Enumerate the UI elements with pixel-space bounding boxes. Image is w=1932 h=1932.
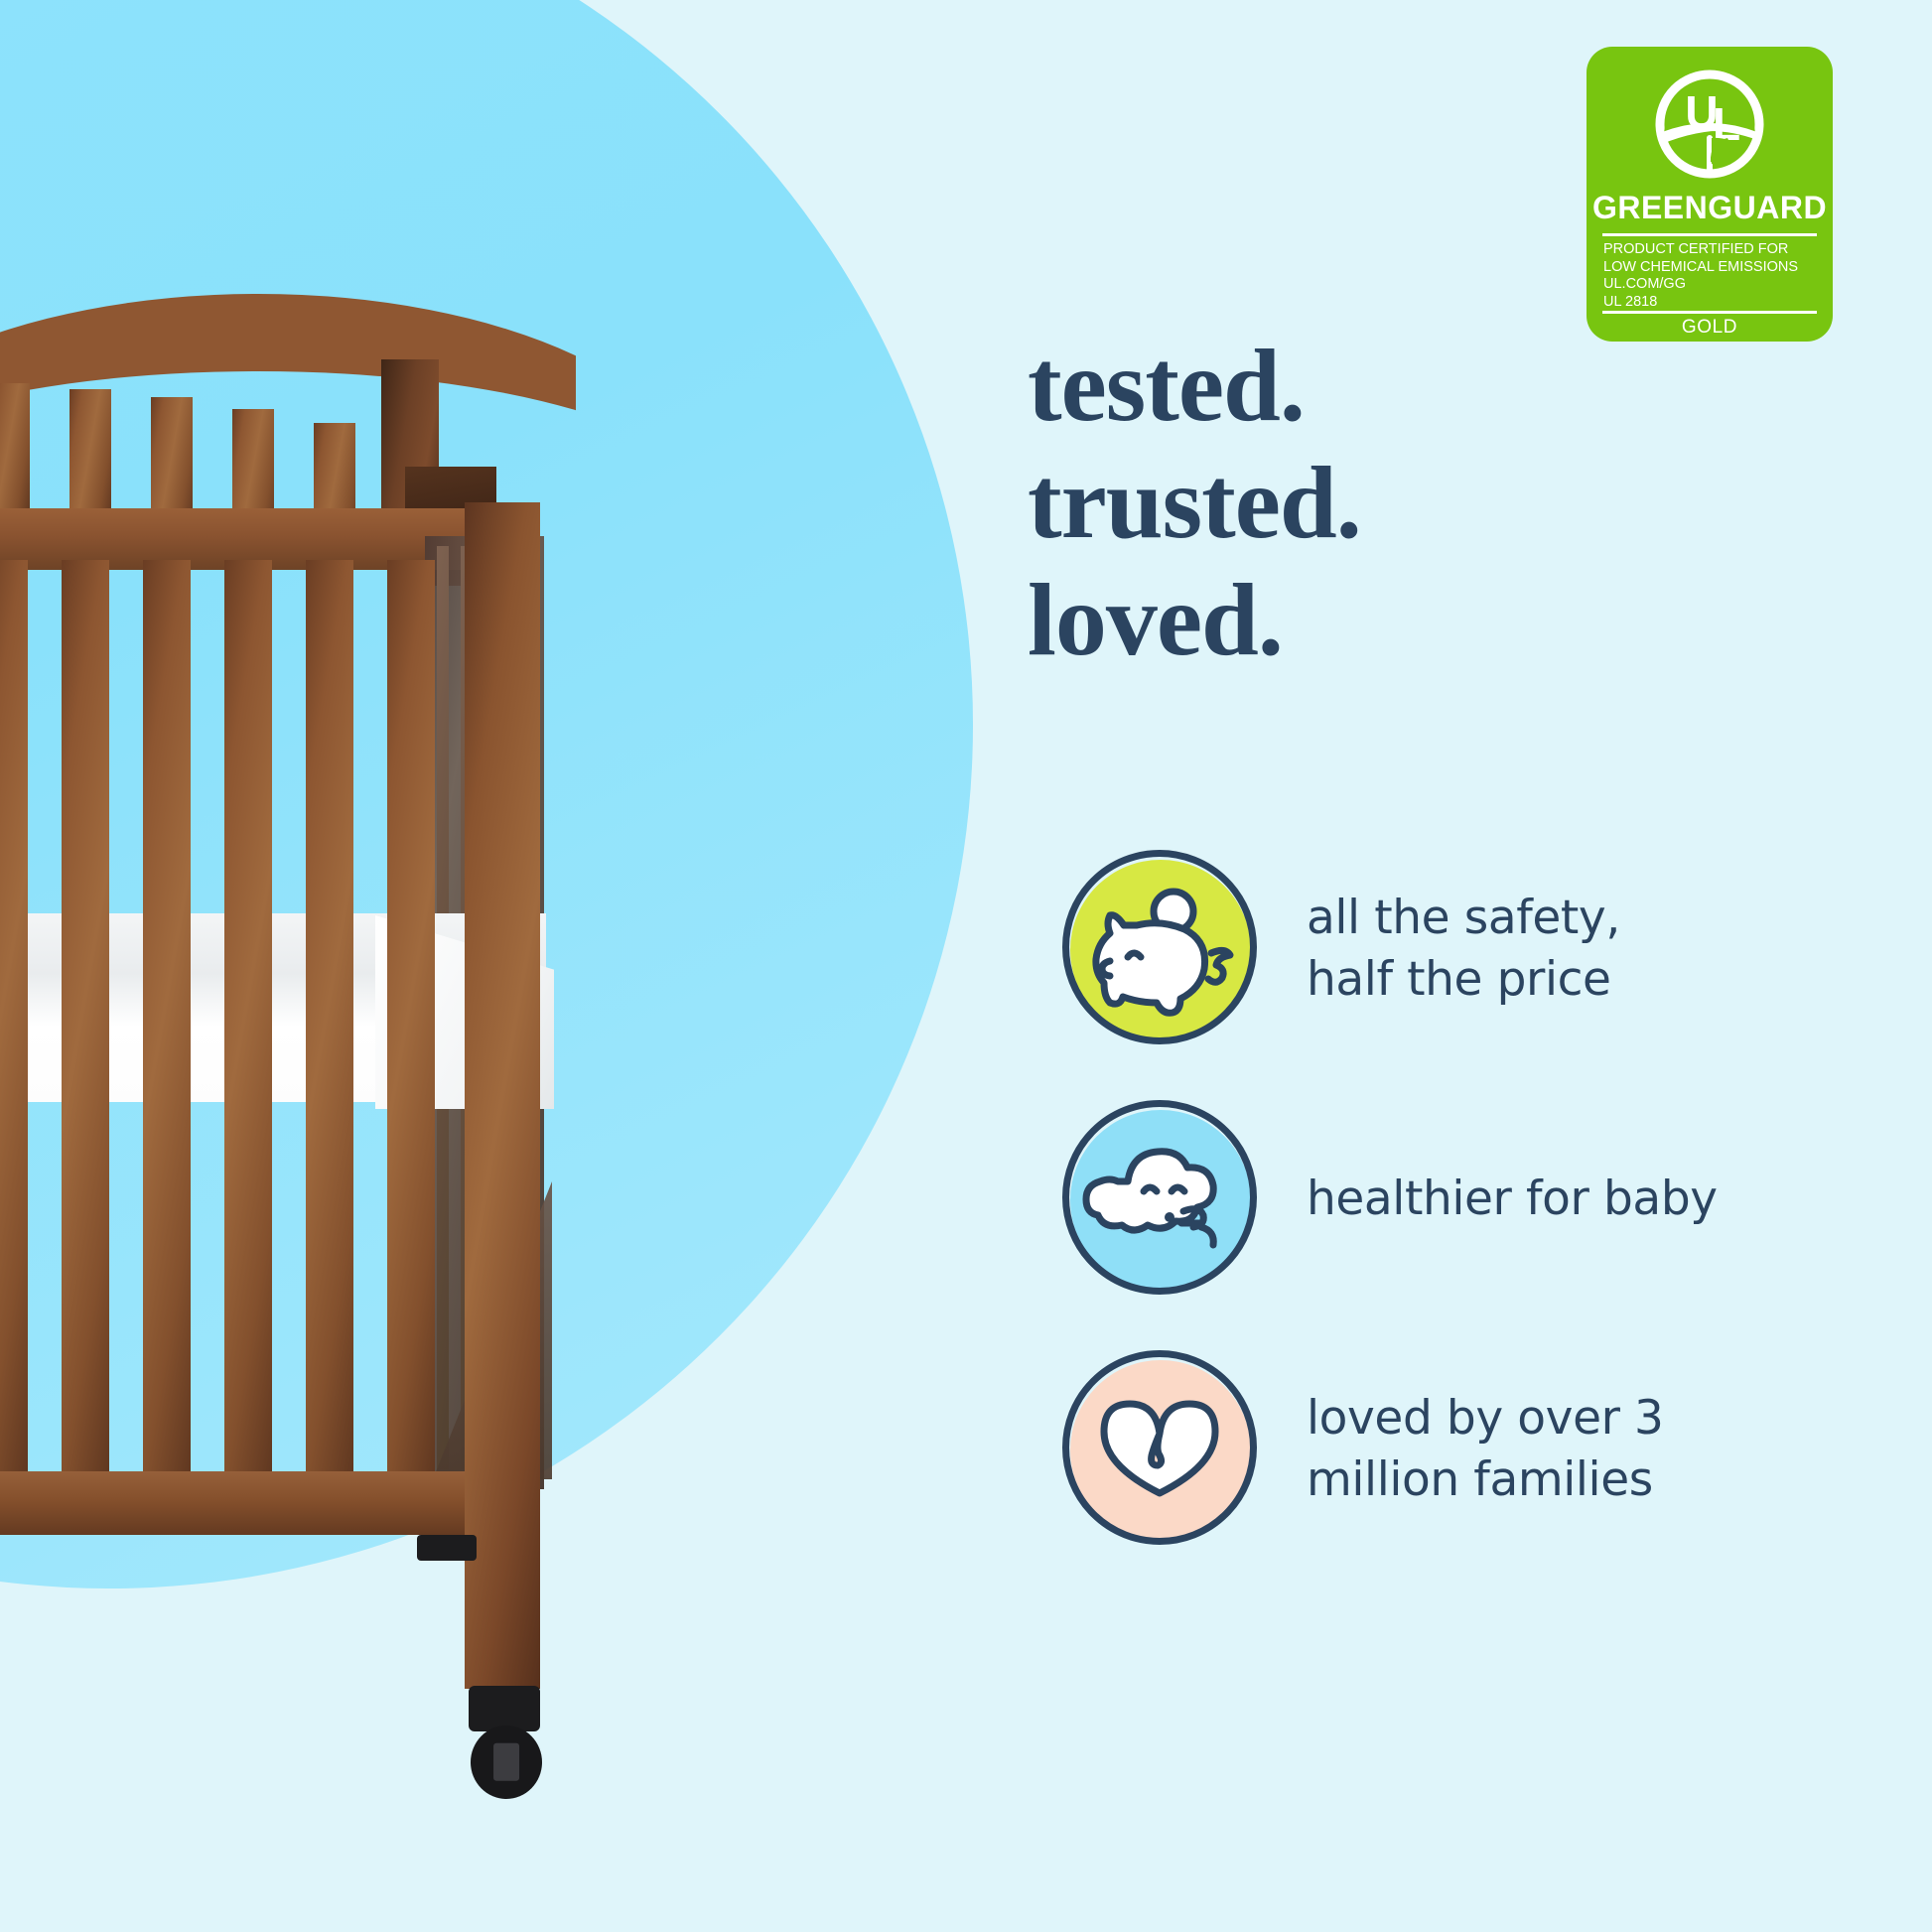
crib-slat	[69, 389, 111, 520]
feature-list: all the safety, half the price	[1028, 824, 1932, 1575]
cloud-blowing-icon	[1062, 1100, 1261, 1299]
feature-label: all the safety, half the price	[1307, 888, 1620, 1011]
content-column: U L GREENGUARD PRODUCT CERTIFIED FOR LOW…	[1028, 0, 1932, 1932]
badge-certification-text: PRODUCT CERTIFIED FOR LOW CHEMICAL EMISS…	[1603, 241, 1798, 311]
marketing-image-canvas: U L GREENGUARD PRODUCT CERTIFIED FOR LOW…	[0, 0, 1932, 1932]
crib-wheel	[471, 1725, 542, 1799]
piggy-bank-icon	[1062, 850, 1261, 1048]
heart-icon	[1062, 1350, 1261, 1549]
badge-divider-bottom	[1602, 311, 1817, 314]
feature-item: healthier for baby	[1028, 1074, 1932, 1324]
crib-slat	[0, 560, 28, 1477]
feature-item: all the safety, half the price	[1028, 824, 1932, 1074]
piggy-bank-glyph	[1062, 850, 1257, 1044]
badge-line-2: LOW CHEMICAL EMISSIONS	[1603, 259, 1798, 277]
headline-line-2: trusted.	[1028, 445, 1932, 562]
crib-slat	[62, 560, 109, 1477]
badge-title: GREENGUARD	[1587, 190, 1833, 226]
product-photo	[0, 0, 973, 1932]
crib-slat	[224, 560, 272, 1477]
headline-line-1: tested.	[1028, 328, 1932, 445]
crib-front-post	[465, 502, 540, 1689]
crib-slat	[0, 383, 30, 514]
badge-line-3: UL.COM/GG	[1603, 276, 1798, 294]
feature-label: loved by over 3 million families	[1307, 1388, 1664, 1511]
badge-line-1: PRODUCT CERTIFIED FOR	[1603, 241, 1798, 259]
heart-glyph	[1062, 1350, 1257, 1545]
crib-bottom-rail	[0, 1471, 516, 1535]
badge-divider-top	[1602, 233, 1817, 236]
cloud-glyph	[1062, 1100, 1257, 1295]
crib-caster-bracket	[417, 1535, 477, 1561]
badge-line-4: UL 2818	[1603, 294, 1798, 312]
crib-slat	[143, 560, 191, 1477]
page-title: tested. trusted. loved.	[1028, 328, 1932, 679]
crib-illustration	[0, 288, 675, 1797]
greenguard-badge: U L GREENGUARD PRODUCT CERTIFIED FOR LOW…	[1587, 47, 1833, 342]
ul-greenguard-logo-icon: U L	[1652, 67, 1767, 182]
crib-slat	[387, 560, 435, 1477]
headline-line-3: loved.	[1028, 562, 1932, 679]
crib-slat	[306, 560, 353, 1477]
feature-label: healthier for baby	[1307, 1169, 1718, 1230]
feature-item: loved by over 3 million families	[1028, 1324, 1932, 1575]
